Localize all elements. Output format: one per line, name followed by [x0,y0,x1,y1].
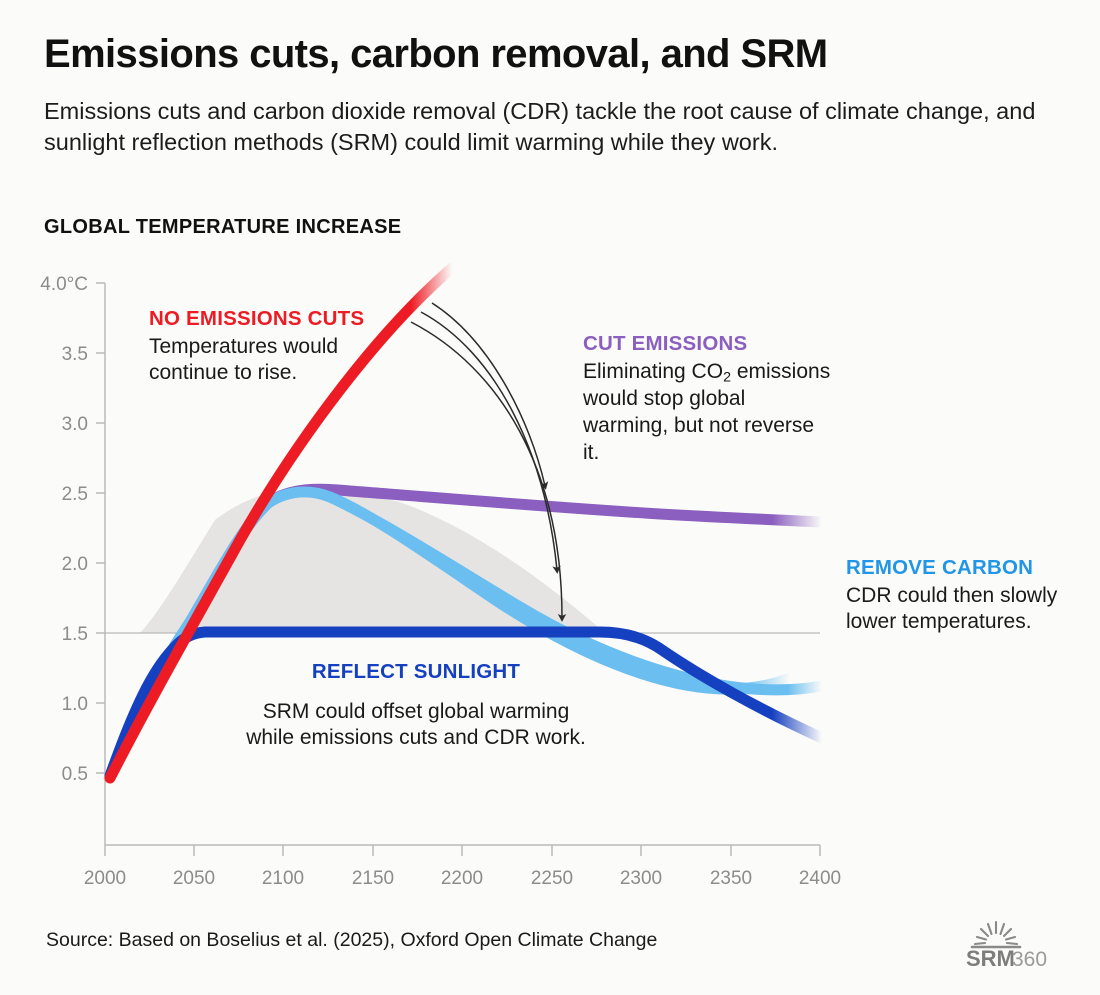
annotation-cut-emissions-body-part1: Eliminating CO [583,360,723,383]
ytick-label-3-5: 3.5 [62,344,88,365]
xtick-label-2150: 2150 [352,868,394,889]
ytick-label-2-5: 2.5 [62,484,88,505]
srm360-logo: SRM 360 [958,916,1062,972]
xtick-label-2050: 2050 [173,868,215,889]
source-note: Source: Based on Boselius et al. (2025),… [46,929,657,952]
infographic-page: Emissions cuts, carbon removal, and SRM … [0,0,1100,995]
xtick-label-2000: 2000 [84,868,126,889]
annotation-cut-emissions-subscript: 2 [723,369,731,385]
srm360-logo-svg: SRM 360 [958,916,1062,972]
ytick-label-1-0: 1.0 [62,694,88,715]
ytick-label-4-0: 4.0°C [40,274,88,295]
ytick-label-0-5: 0.5 [62,764,88,785]
annotation-no-emissions-cuts-body: Temperatures would continue to rise. [149,334,399,388]
annotation-reflect-sunlight-body: SRM could offset global warming while em… [236,699,596,753]
chart-plot-area: 4.0°C 3.5 3.0 2.5 2.0 1.5 1.0 0.5 2000 2… [0,0,1100,995]
ytick-label-3-0: 3.0 [62,414,88,435]
sun-rays-icon [975,922,1017,944]
logo-number-text: 360 [1012,948,1047,971]
annotation-remove-carbon: REMOVE CARBON CDR could then slowly lowe… [846,556,1061,636]
annotation-cut-emissions-body: Eliminating CO2 emissions would stop glo… [583,359,833,467]
xtick-label-2250: 2250 [531,868,573,889]
annotation-cut-emissions-heading: CUT EMISSIONS [583,332,833,357]
xtick-label-2300: 2300 [620,868,662,889]
ytick-label-1-5: 1.5 [62,624,88,645]
annotation-no-emissions-cuts-heading: NO EMISSIONS CUTS [149,307,399,332]
y-tick-marks [96,283,105,773]
annotation-reflect-sunlight: REFLECT SUNLIGHT SRM could offset global… [236,660,596,752]
annotation-reflect-sunlight-heading: REFLECT SUNLIGHT [236,660,596,685]
ytick-label-2-0: 2.0 [62,554,88,575]
xtick-label-2400: 2400 [799,868,841,889]
xtick-label-2100: 2100 [262,868,304,889]
annotation-remove-carbon-heading: REMOVE CARBON [846,556,1061,581]
annotation-no-emissions-cuts: NO EMISSIONS CUTS Temperatures would con… [149,307,399,387]
x-tick-marks [105,845,820,856]
logo-brand-text: SRM [966,946,1015,971]
chart-svg: 4.0°C 3.5 3.0 2.5 2.0 1.5 1.0 0.5 2000 2… [0,0,1100,995]
annotation-cut-emissions: CUT EMISSIONS Eliminating CO2 emissions … [583,332,833,467]
xtick-label-2350: 2350 [710,868,752,889]
annotation-remove-carbon-body: CDR could then slowly lower temperatures… [846,583,1061,637]
xtick-label-2200: 2200 [441,868,483,889]
